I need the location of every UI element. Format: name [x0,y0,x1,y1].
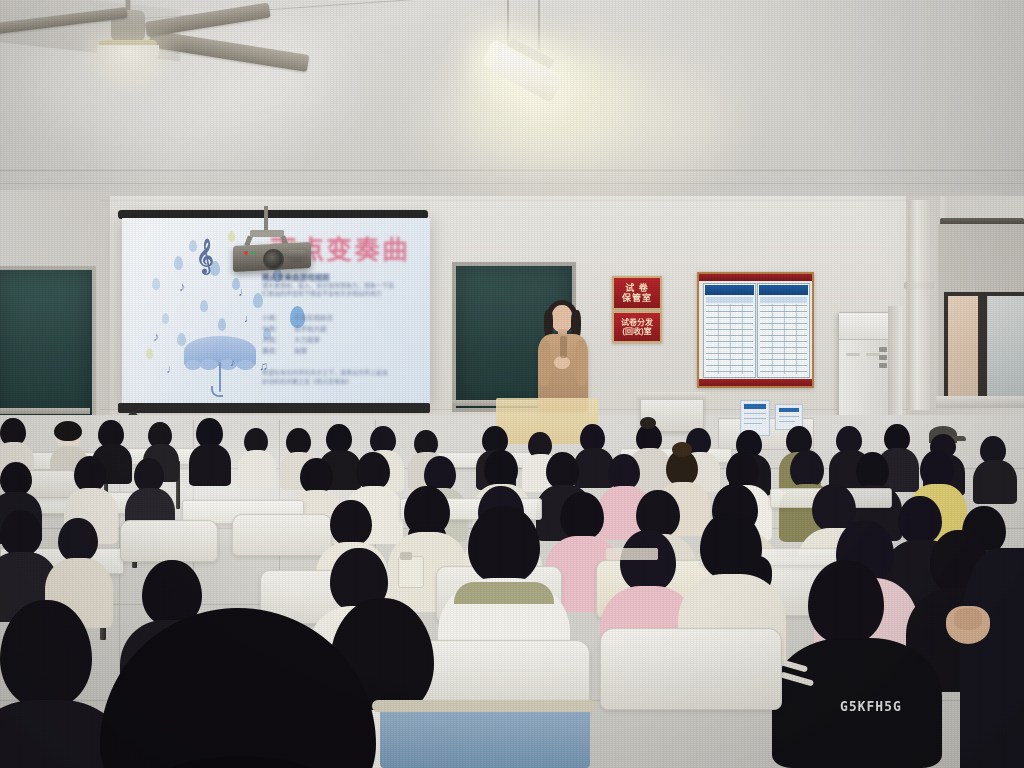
slide-closing-line1: 希望在各位同学的天才之下，演奏出世界上最美 [262,370,388,379]
exam-schedule-boards [697,272,814,388]
jacket-graphic-text: G5KFH5G [840,700,902,715]
music-note-icon: ♩ [166,363,178,375]
exam-paper-distribution-sign: 试卷分发 (回收)室 [612,311,662,343]
student [960,548,1024,768]
raindrop [174,256,183,270]
pendant-light [470,0,630,140]
bottle-cap [400,552,412,560]
ceiling-seam [0,183,1024,184]
music-note-icon: ♪ [230,358,236,369]
chair-rim [372,700,596,712]
column-capital [904,282,934,289]
slide-rule-value-2: 大力鼓掌 [294,336,320,345]
window-mullion [944,292,1024,296]
music-note-icon: ♩ [244,314,255,325]
chalk-tray [0,408,90,414]
slide-closing-line2: 妙动听的天籁之音《雨点变奏曲》 [262,379,352,388]
slide-rule-value-3: 跺脚 [294,347,307,356]
blackboard-left [0,266,96,420]
ceiling-projector [228,232,318,282]
air-conditioner-side [888,306,902,418]
raindrop-accent [146,348,153,359]
raindrop [200,300,208,312]
ceiling-fan [0,0,330,90]
raindrop [218,318,226,331]
wall-column [908,200,930,410]
sign-line-1: 试 卷 [625,283,649,293]
slide-intro-line2: 们发出的声音和下雨会不会有许多相似的地方 [262,291,382,300]
chair-back [600,628,782,710]
music-note-icon: ♩ [238,286,250,298]
raindrop [162,313,169,324]
slide-rule-value-0: 手指互相敲击 [294,314,333,323]
classroom-photo: 𝄞 ♪ ♩ ♪ ♩ ♪ ♫ ♩ 雨点变奏曲 雨点变奏曲游戏规则 请大家放松、投入… [0,0,1024,768]
window-pane [948,296,978,398]
wall-topline [100,200,916,201]
slide-rule-label-2: 大雨： [262,336,282,345]
window-mullion [978,294,987,400]
screen-bottom-bar [118,403,430,413]
slide-rule-label-0: 小雨： [262,314,282,323]
window-sill [936,396,1024,408]
exam-paper-storage-sign: 试 卷 保管室 [612,276,662,310]
sign-line-1: 试卷分发 [621,318,653,327]
treble-clef-icon: 𝄞 [196,242,214,272]
raindrop [152,278,160,290]
umbrella-graphic [184,336,256,366]
chair-back [120,520,218,562]
paper-sheet [606,548,658,560]
chair-back [232,514,332,556]
slide-rule-value-1: 双手拍大腿 [294,325,327,334]
air-conditioner [838,312,892,418]
exam-schedule-board [703,283,756,378]
bottle [398,556,424,588]
music-note-icon: ♪ [153,330,160,343]
sign-line-2: 保管室 [622,293,652,303]
lectern-top [636,392,706,400]
sign-line-2: (回收)室 [622,327,651,336]
music-note-icon: ♪ [179,280,186,293]
exam-schedule-board [757,283,810,378]
blue-chair-cushion [380,706,590,768]
slide-rule-label-3: 暴雨： [262,347,282,356]
window-pane [988,296,1024,398]
slide-rule-label-1: 中雨： [262,325,282,334]
window-mullion [944,294,948,400]
